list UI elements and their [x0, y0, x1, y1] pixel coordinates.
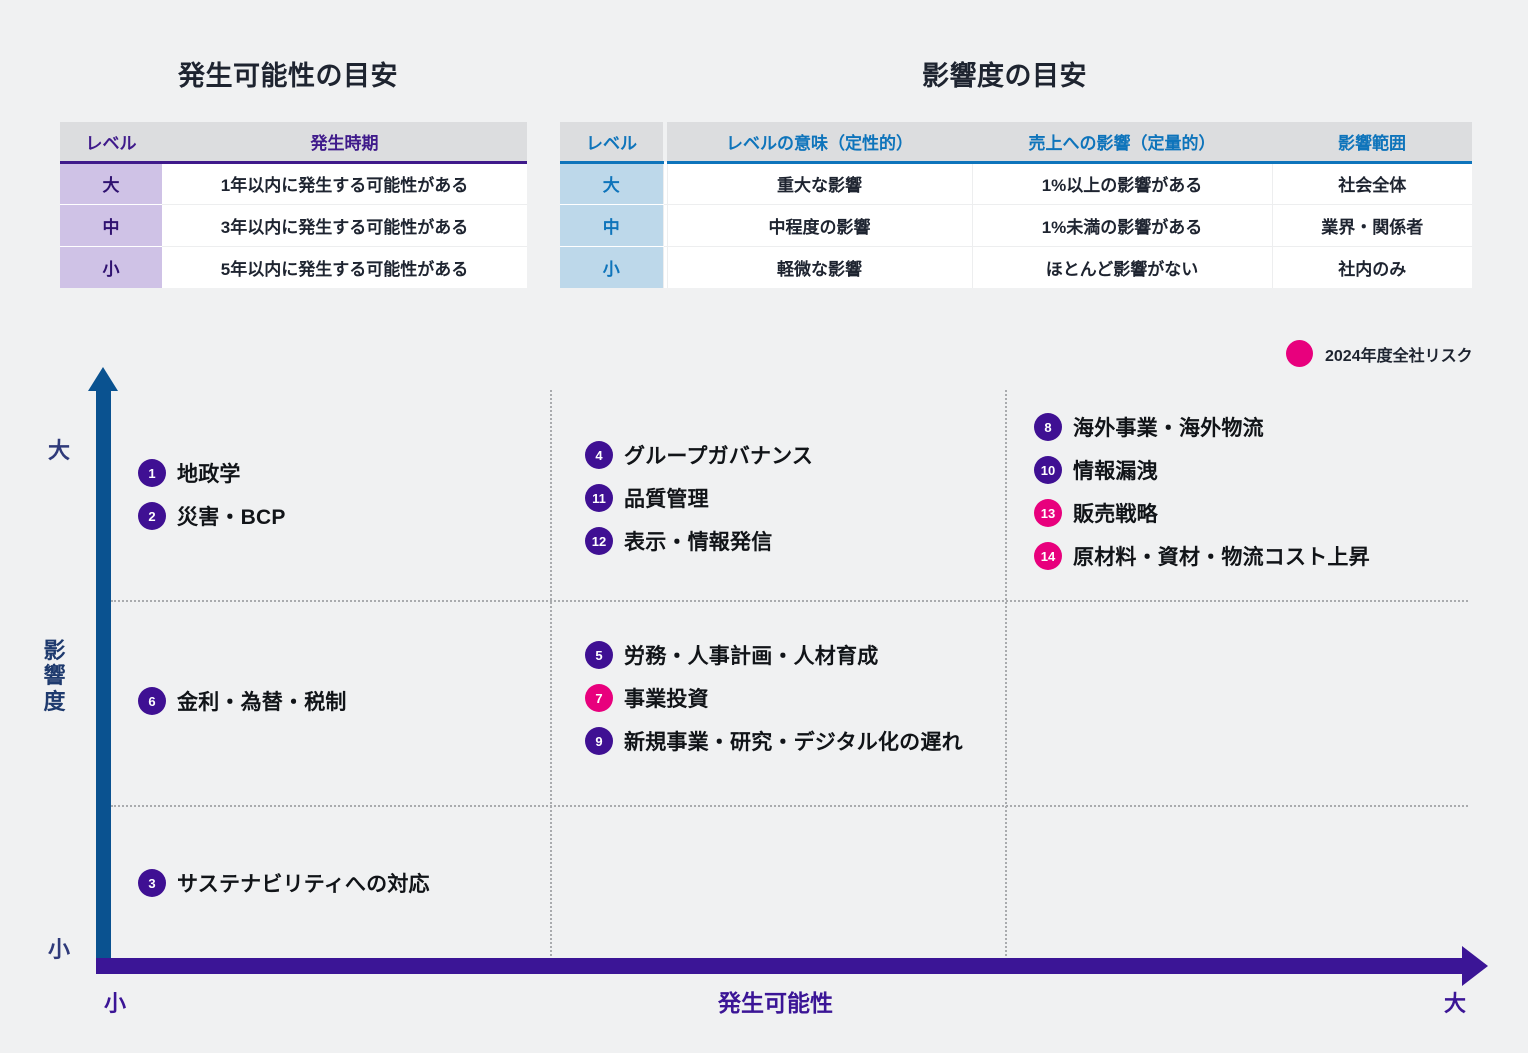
cell-level: 小 [560, 246, 663, 288]
risk-badge: 1 [138, 459, 166, 487]
cell-sales: 1%以上の影響がある [972, 162, 1272, 204]
risk-badge: 9 [585, 727, 613, 755]
gridline-horizontal [111, 805, 1468, 807]
risk-item[interactable]: 11 品質管理 [585, 483, 813, 513]
cell-level: 中 [560, 204, 663, 246]
cell-meaning: 中程度の影響 [667, 204, 972, 246]
risk-item[interactable]: 5 労務・人事計画・人材育成 [585, 640, 963, 670]
likelihood-section-title: 発生可能性の目安 [178, 54, 398, 93]
risk-badge: 3 [138, 869, 166, 897]
risk-label: 品質管理 [624, 483, 709, 513]
cell-level: 大 [560, 162, 663, 204]
cell-timing: 3年以内に発生する可能性がある [162, 204, 527, 246]
risk-badge: 14 [1034, 542, 1062, 570]
cell-scope: 社会全体 [1272, 162, 1472, 204]
risk-item[interactable]: 8 海外事業・海外物流 [1034, 412, 1370, 442]
risk-badge: 10 [1034, 456, 1062, 484]
risk-badge: 8 [1034, 413, 1062, 441]
x-axis-title: 発生可能性 [718, 984, 833, 1018]
y-axis-line [96, 388, 111, 968]
risk-item[interactable]: 10 情報漏洩 [1034, 455, 1370, 485]
risk-map-page: 発生可能性の目安 影響度の目安 レベル 発生時期 大 1年以内に発生する可能性が… [0, 0, 1528, 1053]
cell-timing: 1年以内に発生する可能性がある [162, 162, 527, 204]
impact-section-title: 影響度の目安 [922, 54, 1087, 93]
legend-label: 2024年度全社リスク [1325, 342, 1473, 366]
risk-item[interactable]: 7 事業投資 [585, 683, 963, 713]
table-row: 中 中程度の影響 1%未満の影響がある 業界・関係者 [560, 204, 1472, 246]
risk-label: 災害・BCP [177, 501, 286, 531]
risk-item[interactable]: 14 原材料・資材・物流コスト上昇 [1034, 541, 1370, 571]
y-axis-title: 影響度 [40, 638, 70, 714]
cell-level: 中 [60, 204, 162, 246]
risk-item[interactable]: 2 災害・BCP [138, 501, 286, 531]
x-axis-high-label: 大 [1444, 986, 1466, 1018]
risk-badge: 2 [138, 502, 166, 530]
risk-group-bottom-left: 3 サステナビリティへの対応 [138, 868, 430, 898]
gridline-vertical [1005, 390, 1007, 968]
risk-label: 表示・情報発信 [624, 526, 772, 556]
table-row: 大 1年以内に発生する可能性がある [60, 162, 527, 204]
risk-label: 原材料・資材・物流コスト上昇 [1073, 541, 1370, 571]
legend: 2024年度全社リスク [1286, 340, 1473, 367]
risk-group-top-right: 8 海外事業・海外物流 10 情報漏洩 13 販売戦略 14 原材料・資材・物流… [1034, 412, 1370, 571]
risk-label: サステナビリティへの対応 [177, 868, 430, 898]
risk-badge: 4 [585, 441, 613, 469]
risk-badge: 5 [585, 641, 613, 669]
col-header-sales: 売上への影響（定量的） [972, 122, 1272, 162]
cell-level: 大 [60, 162, 162, 204]
risk-item[interactable]: 6 金利・為替・税制 [138, 686, 347, 716]
gridline-vertical [550, 390, 552, 968]
risk-label: 海外事業・海外物流 [1073, 412, 1264, 442]
cell-scope: 業界・関係者 [1272, 204, 1472, 246]
risk-badge: 12 [585, 527, 613, 555]
risk-item[interactable]: 9 新規事業・研究・デジタル化の遅れ [585, 726, 963, 756]
col-header-timing: 発生時期 [162, 122, 527, 162]
risk-group-top-left: 1 地政学 2 災害・BCP [138, 458, 286, 531]
risk-badge: 7 [585, 684, 613, 712]
cell-sales: 1%未満の影響がある [972, 204, 1272, 246]
risk-group-middle-left: 6 金利・為替・税制 [138, 686, 347, 716]
risk-label: グループガバナンス [624, 440, 813, 470]
col-header-scope: 影響範囲 [1272, 122, 1472, 162]
risk-badge: 6 [138, 687, 166, 715]
table-row: 小 5年以内に発生する可能性がある [60, 246, 527, 288]
risk-badge: 11 [585, 484, 613, 512]
risk-item[interactable]: 3 サステナビリティへの対応 [138, 868, 430, 898]
cell-level: 小 [60, 246, 162, 288]
col-header-level: レベル [560, 122, 663, 162]
cell-scope: 社内のみ [1272, 246, 1472, 288]
cell-meaning: 軽微な影響 [667, 246, 972, 288]
likelihood-criteria-table: レベル 発生時期 大 1年以内に発生する可能性がある 中 3年以内に発生する可能… [60, 122, 527, 288]
risk-label: 販売戦略 [1073, 498, 1158, 528]
y-axis-high-label: 大 [48, 433, 70, 465]
risk-group-top-center: 4 グループガバナンス 11 品質管理 12 表示・情報発信 [585, 440, 813, 556]
cell-meaning: 重大な影響 [667, 162, 972, 204]
risk-label: 金利・為替・税制 [177, 686, 347, 716]
risk-item[interactable]: 4 グループガバナンス [585, 440, 813, 470]
risk-label: 新規事業・研究・デジタル化の遅れ [624, 726, 963, 756]
risk-badge: 13 [1034, 499, 1062, 527]
table-header-row: レベル レベルの意味（定性的） 売上への影響（定量的） 影響範囲 [560, 122, 1472, 162]
col-header-level: レベル [60, 122, 162, 162]
table-header-row: レベル 発生時期 [60, 122, 527, 162]
x-axis-arrow-icon [1462, 946, 1488, 986]
risk-item[interactable]: 12 表示・情報発信 [585, 526, 813, 556]
cell-timing: 5年以内に発生する可能性がある [162, 246, 527, 288]
risk-item[interactable]: 13 販売戦略 [1034, 498, 1370, 528]
x-axis-line [96, 958, 1468, 974]
risk-label: 労務・人事計画・人材育成 [624, 640, 878, 670]
x-axis-low-label: 小 [104, 986, 126, 1018]
legend-dot-icon [1286, 340, 1313, 367]
table-row: 中 3年以内に発生する可能性がある [60, 204, 527, 246]
risk-label: 地政学 [177, 458, 241, 488]
gridline-horizontal [111, 600, 1468, 602]
table-row: 小 軽微な影響 ほとんど影響がない 社内のみ [560, 246, 1472, 288]
y-axis-arrow-icon [88, 367, 118, 391]
col-header-meaning: レベルの意味（定性的） [667, 122, 972, 162]
risk-item[interactable]: 1 地政学 [138, 458, 286, 488]
impact-criteria-table: レベル レベルの意味（定性的） 売上への影響（定量的） 影響範囲 大 重大な影響… [560, 122, 1472, 288]
cell-sales: ほとんど影響がない [972, 246, 1272, 288]
y-axis-low-label: 小 [48, 932, 70, 964]
table-row: 大 重大な影響 1%以上の影響がある 社会全体 [560, 162, 1472, 204]
risk-label: 事業投資 [624, 683, 709, 713]
risk-group-middle-center: 5 労務・人事計画・人材育成 7 事業投資 9 新規事業・研究・デジタル化の遅れ [585, 640, 963, 756]
risk-label: 情報漏洩 [1073, 455, 1158, 485]
